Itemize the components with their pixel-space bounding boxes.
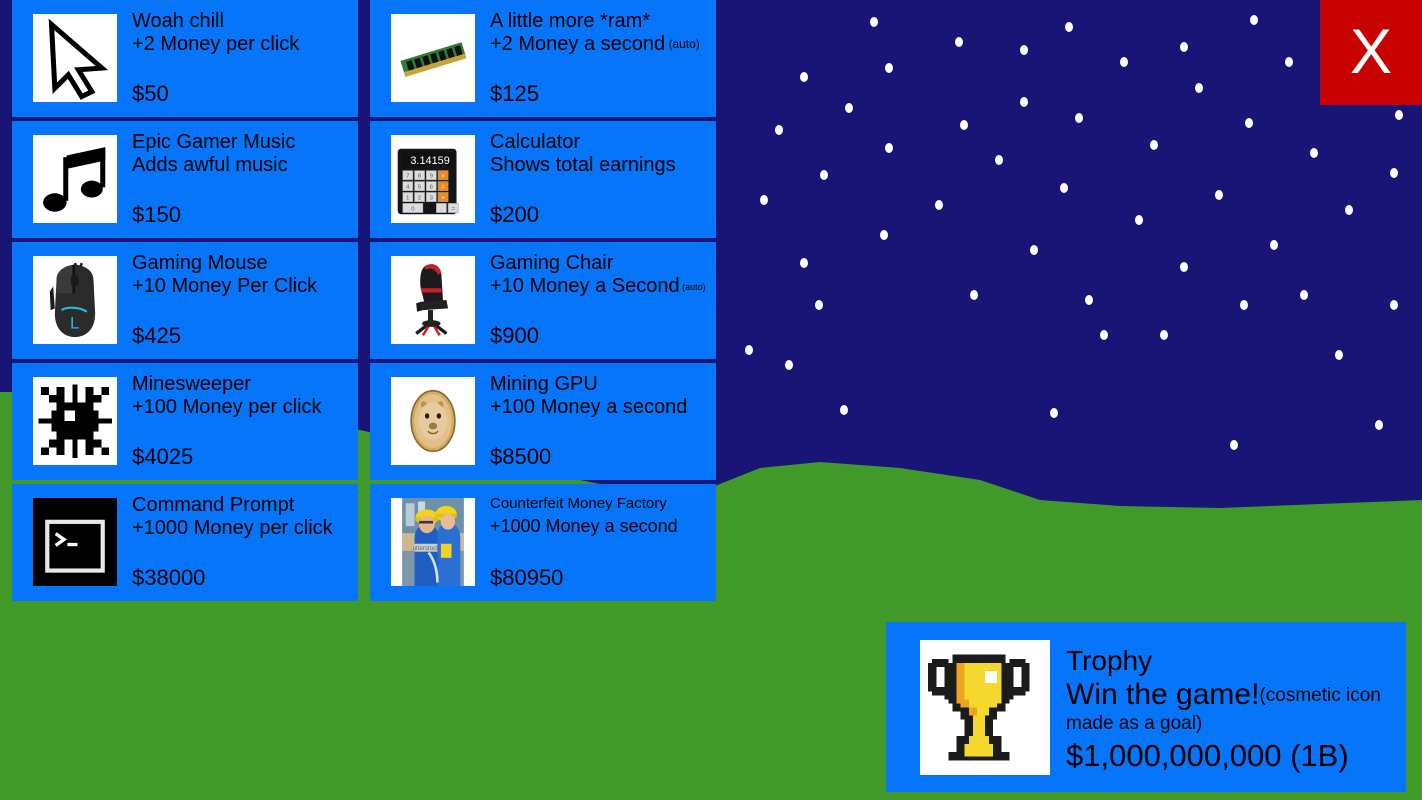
shop-item-description: +10 Money a Second (auto) [490, 274, 710, 299]
shop-item-card[interactable]: L Gaming Mouse +10 Money Per Click $425 [12, 242, 358, 359]
svg-text:6: 6 [430, 185, 433, 191]
shop-column-left: Woah chill +2 Money per click $50 Epic G… [12, 0, 358, 605]
svg-text:1: 1 [406, 196, 409, 202]
shop-item-text: Gaming Mouse +10 Money Per Click [132, 252, 352, 298]
shop-item-card[interactable]: Mining GPU +100 Money a second $8500 [370, 363, 716, 480]
trophy-goal: Win the game!(cosmetic icon [1066, 678, 1398, 713]
svg-text:×: × [441, 174, 445, 180]
shop-item-card[interactable]: Command Prompt +1000 Money per click $38… [12, 484, 358, 601]
trophy-goal-card[interactable]: Trophy Win the game!(cosmetic icon made … [886, 622, 1406, 792]
shop-item-card[interactable]: utterstock Counterfeit Money Factory +10… [370, 484, 716, 601]
shop-item-description: +2 Money per click [132, 32, 352, 56]
shop-item-text: Epic Gamer Music Adds awful music [132, 131, 352, 177]
shop-item-effect: +10 Money Per Click [132, 275, 317, 297]
shop-item-auto-tag: (auto) [680, 282, 706, 292]
shop-item-title: Counterfeit Money Factory [490, 494, 710, 514]
shop-item-description: Shows total earnings [490, 153, 710, 177]
svg-text:9: 9 [430, 174, 433, 180]
shop-item-price: $80950 [490, 565, 563, 591]
shop-item-effect: Shows total earnings [490, 154, 676, 176]
shop-item-title: Minesweeper [132, 373, 352, 395]
shop-item-card[interactable]: Woah chill +2 Money per click $50 [12, 0, 358, 117]
command-prompt-icon [33, 498, 117, 586]
shop-item-effect: +2 Money per click [132, 33, 299, 55]
shop-item-effect: Adds awful music [132, 154, 288, 176]
shop-item-title: Gaming Mouse [132, 252, 352, 274]
shop-item-price: $4025 [132, 444, 193, 470]
svg-text:3.14159: 3.14159 [410, 155, 449, 167]
minesweeper-mine-icon [33, 377, 117, 465]
shop-item-title: Command Prompt [132, 494, 352, 516]
shop-item-text: Minesweeper +100 Money per click [132, 373, 352, 419]
shop-item-title: A little more *ram* [490, 10, 710, 32]
trophy-icon [920, 640, 1050, 775]
shop-item-card[interactable]: A little more *ram* +2 Money a second (a… [370, 0, 716, 117]
shop-item-description: +1000 Money per click [132, 516, 352, 540]
shop-item-text: Woah chill +2 Money per click [132, 10, 352, 56]
shop-item-title: Epic Gamer Music [132, 131, 352, 153]
trophy-title: Trophy [1066, 644, 1398, 678]
trophy-price: $1,000,000,000 (1B) [1066, 736, 1398, 776]
shop-item-description: Adds awful music [132, 153, 352, 177]
shop-item-description: +1000 Money a second [490, 514, 710, 538]
shop-item-price: $425 [132, 323, 181, 349]
factory-workers-icon: utterstock [391, 498, 475, 586]
music-note-icon [33, 135, 117, 223]
shop-item-price: $50 [132, 81, 169, 107]
shop-item-price: $38000 [132, 565, 205, 591]
shop-item-price: $200 [490, 202, 539, 228]
shop-item-effect: +1000 Money per click [132, 517, 333, 539]
gaming-mouse-icon: L [33, 256, 117, 344]
doge-coin-icon [391, 377, 475, 465]
mouse-cursor-icon [33, 14, 117, 102]
svg-text:8: 8 [418, 174, 421, 180]
shop-item-price: $900 [490, 323, 539, 349]
shop-item-price: $125 [490, 81, 539, 107]
shop-item-price: $8500 [490, 444, 551, 470]
svg-text:=: = [451, 207, 455, 213]
shop-item-card[interactable]: 3.14159 7 8 9 × 4 5 6 = [370, 121, 716, 238]
shop-column-right: A little more *ram* +2 Money a second (a… [370, 0, 716, 605]
shop-item-text: Mining GPU +100 Money a second [490, 373, 710, 419]
shop-item-description: +100 Money per click [132, 395, 352, 419]
shop-item-text: A little more *ram* +2 Money a second (a… [490, 10, 710, 56]
svg-text:=: = [441, 185, 445, 191]
svg-text:utterstock: utterstock [413, 545, 441, 552]
shop-item-card[interactable]: Gaming Chair +10 Money a Second (auto) $… [370, 242, 716, 359]
ram-stick-icon [391, 14, 475, 102]
close-icon: X [1350, 21, 1392, 84]
shop-item-text: Command Prompt +1000 Money per click [132, 494, 352, 540]
shop-item-effect: +100 Money a second [490, 396, 687, 418]
shop-item-title: Gaming Chair [490, 252, 710, 274]
shop-item-effect: +1000 Money a second [490, 516, 678, 536]
shop-item-effect: +10 Money a Second [490, 275, 680, 297]
shop-item-card[interactable]: Epic Gamer Music Adds awful music $150 [12, 121, 358, 238]
shop-item-description: +10 Money Per Click [132, 274, 352, 298]
shop-item-price: $150 [132, 202, 181, 228]
trophy-text: Trophy Win the game!(cosmetic icon made … [1066, 644, 1398, 776]
shop-item-title: Woah chill [132, 10, 352, 32]
svg-text:L: L [70, 314, 79, 333]
trophy-note-second: made as a goal) [1066, 713, 1398, 734]
shop-item-text: Counterfeit Money Factory +1000 Money a … [490, 494, 710, 538]
calculator-icon: 3.14159 7 8 9 × 4 5 6 = [391, 135, 475, 223]
shop-item-effect: +2 Money a second [490, 33, 665, 55]
shop-item-auto-tag: (auto) [665, 37, 700, 51]
svg-text:7: 7 [406, 174, 409, 180]
gaming-chair-icon [391, 256, 475, 344]
shop-item-effect: +100 Money per click [132, 396, 322, 418]
shop-item-description: +100 Money a second [490, 395, 710, 419]
shop-item-title: Mining GPU [490, 373, 710, 395]
shop-item-title: Calculator [490, 131, 710, 153]
trophy-goal-text: Win the game! [1066, 678, 1259, 711]
shop-item-text: Gaming Chair +10 Money a Second (auto) [490, 252, 710, 299]
svg-text:+: + [441, 196, 445, 202]
shop-item-card[interactable]: Minesweeper +100 Money per click $4025 [12, 363, 358, 480]
close-button[interactable]: X [1320, 0, 1422, 105]
svg-text:3: 3 [430, 196, 433, 202]
shop-item-text: Calculator Shows total earnings [490, 131, 710, 177]
shop-item-description: +2 Money a second (auto) [490, 32, 710, 56]
svg-text:2: 2 [418, 196, 421, 202]
trophy-note-inline: (cosmetic icon [1259, 685, 1380, 706]
